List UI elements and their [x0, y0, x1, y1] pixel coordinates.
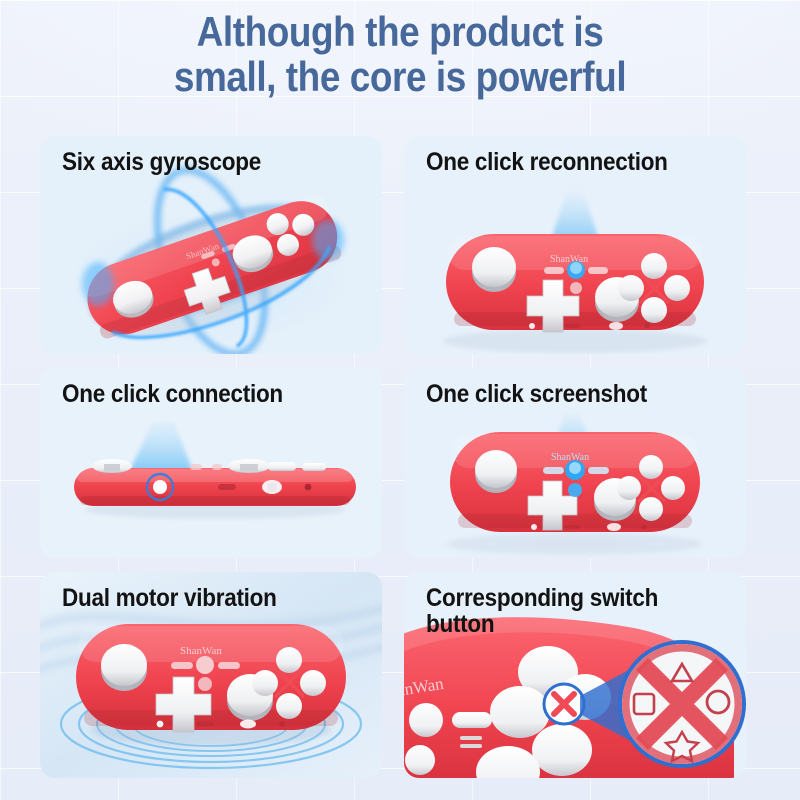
card-heading: Six axis gyroscope: [62, 150, 337, 176]
feature-card-one-click-reconnection[interactable]: ShanWan: [404, 136, 746, 354]
feature-card-one-click-connection[interactable]: One click connection: [40, 368, 382, 558]
card-heading: Dual motor vibration: [62, 586, 337, 612]
feature-card-one-click-screenshot[interactable]: ShanWan: [404, 368, 746, 558]
page-title: Although the product is small, the core …: [48, 10, 752, 100]
title-line-1: Although the product is: [48, 10, 752, 55]
card-heading: Corresponding switch button: [426, 586, 701, 637]
title-line-2: small, the core is powerful: [48, 55, 752, 100]
card-heading: One click reconnection: [426, 150, 701, 176]
feature-card-dual-motor-vibration[interactable]: ShanWan: [40, 572, 382, 778]
feature-card-corresponding-switch-button[interactable]: anWan: [404, 572, 746, 778]
card-heading: One click connection: [62, 382, 337, 408]
feature-card-six-axis-gyroscope[interactable]: ShanWan: [40, 136, 382, 354]
brand-text: ShanWan: [180, 645, 222, 657]
brand-text: ShanWan: [550, 254, 588, 265]
feature-card-grid: ShanWan: [40, 136, 760, 786]
card-heading: One click screenshot: [426, 382, 701, 408]
